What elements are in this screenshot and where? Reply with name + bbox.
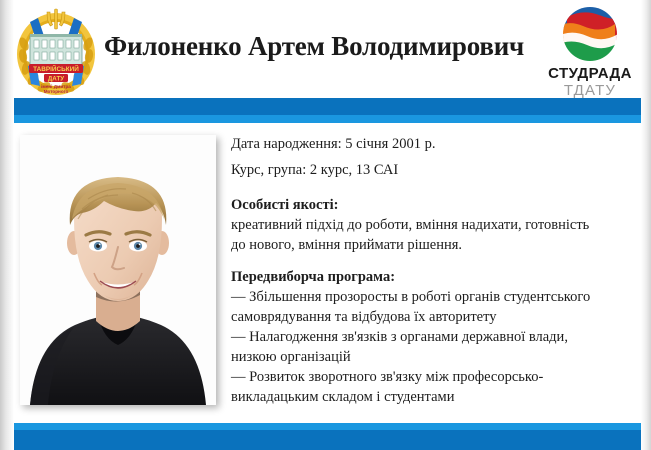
program-line: — Налагодження зв'язків з органами держа… — [231, 327, 635, 347]
emblem-motto-abbr: ДАТУ — [48, 76, 64, 83]
footer-bar-light — [0, 423, 651, 430]
candidate-poster: ТАВРІЙСЬКИЙ ДАТУ імені Дмитра Моторного … — [0, 0, 651, 450]
header-bar-light — [0, 115, 651, 123]
candidate-info: Дата народження: 5 січня 2001 р. Курс, г… — [231, 131, 635, 407]
poster-body: Дата народження: 5 січня 2001 р. Курс, г… — [0, 123, 651, 423]
program-line: — Збільшення прозоросты в роботі органів… — [231, 287, 635, 307]
program-line: низкою організацій — [231, 347, 635, 367]
election-program-heading: Передвиборча програма: — [231, 267, 635, 287]
header-bar-dark — [0, 98, 651, 115]
footer-bar-dark — [0, 430, 651, 450]
personal-qualities-line-1: креативний підхід до роботи, вміння нади… — [231, 215, 635, 235]
candidate-portrait — [20, 135, 216, 405]
studrada-subtitle: ТДАТУ — [542, 82, 638, 99]
course-group-line: Курс, група: 2 курс, 13 САІ — [231, 157, 635, 183]
candidate-name: Филоненко Артем Володимирович — [104, 26, 544, 66]
poster-header: ТАВРІЙСЬКИЙ ДАТУ імені Дмитра Моторного … — [0, 0, 651, 98]
personal-qualities-line-2: до нового, вміння приймати рішення. — [231, 235, 635, 255]
emblem-motto-sub-2: Моторного — [44, 89, 69, 94]
emblem-motto-main: ТАВРІЙСЬКИЙ — [33, 64, 79, 73]
studrada-title: СТУДРАДА — [542, 65, 638, 82]
personal-qualities-heading: Особисті якості: — [231, 195, 635, 215]
tdatu-university-emblem: ТАВРІЙСЬКИЙ ДАТУ імені Дмитра Моторного — [14, 4, 98, 98]
program-line: викладацьким складом і студентами — [231, 387, 635, 407]
program-line: самоврядування та відбудова їх авторитет… — [231, 307, 635, 327]
birth-date-line: Дата народження: 5 січня 2001 р. — [231, 131, 635, 157]
personal-qualities-block: Особисті якості: креативний підхід до ро… — [231, 195, 635, 255]
election-program-block: Передвиборча програма: — Збільшення проз… — [231, 267, 635, 407]
studrada-globe-icon — [559, 5, 621, 63]
studrada-tdatu-logo: СТУДРАДА ТДАТУ — [542, 3, 638, 97]
program-line: — Розвиток зворотного зв'язку між профес… — [231, 367, 635, 387]
